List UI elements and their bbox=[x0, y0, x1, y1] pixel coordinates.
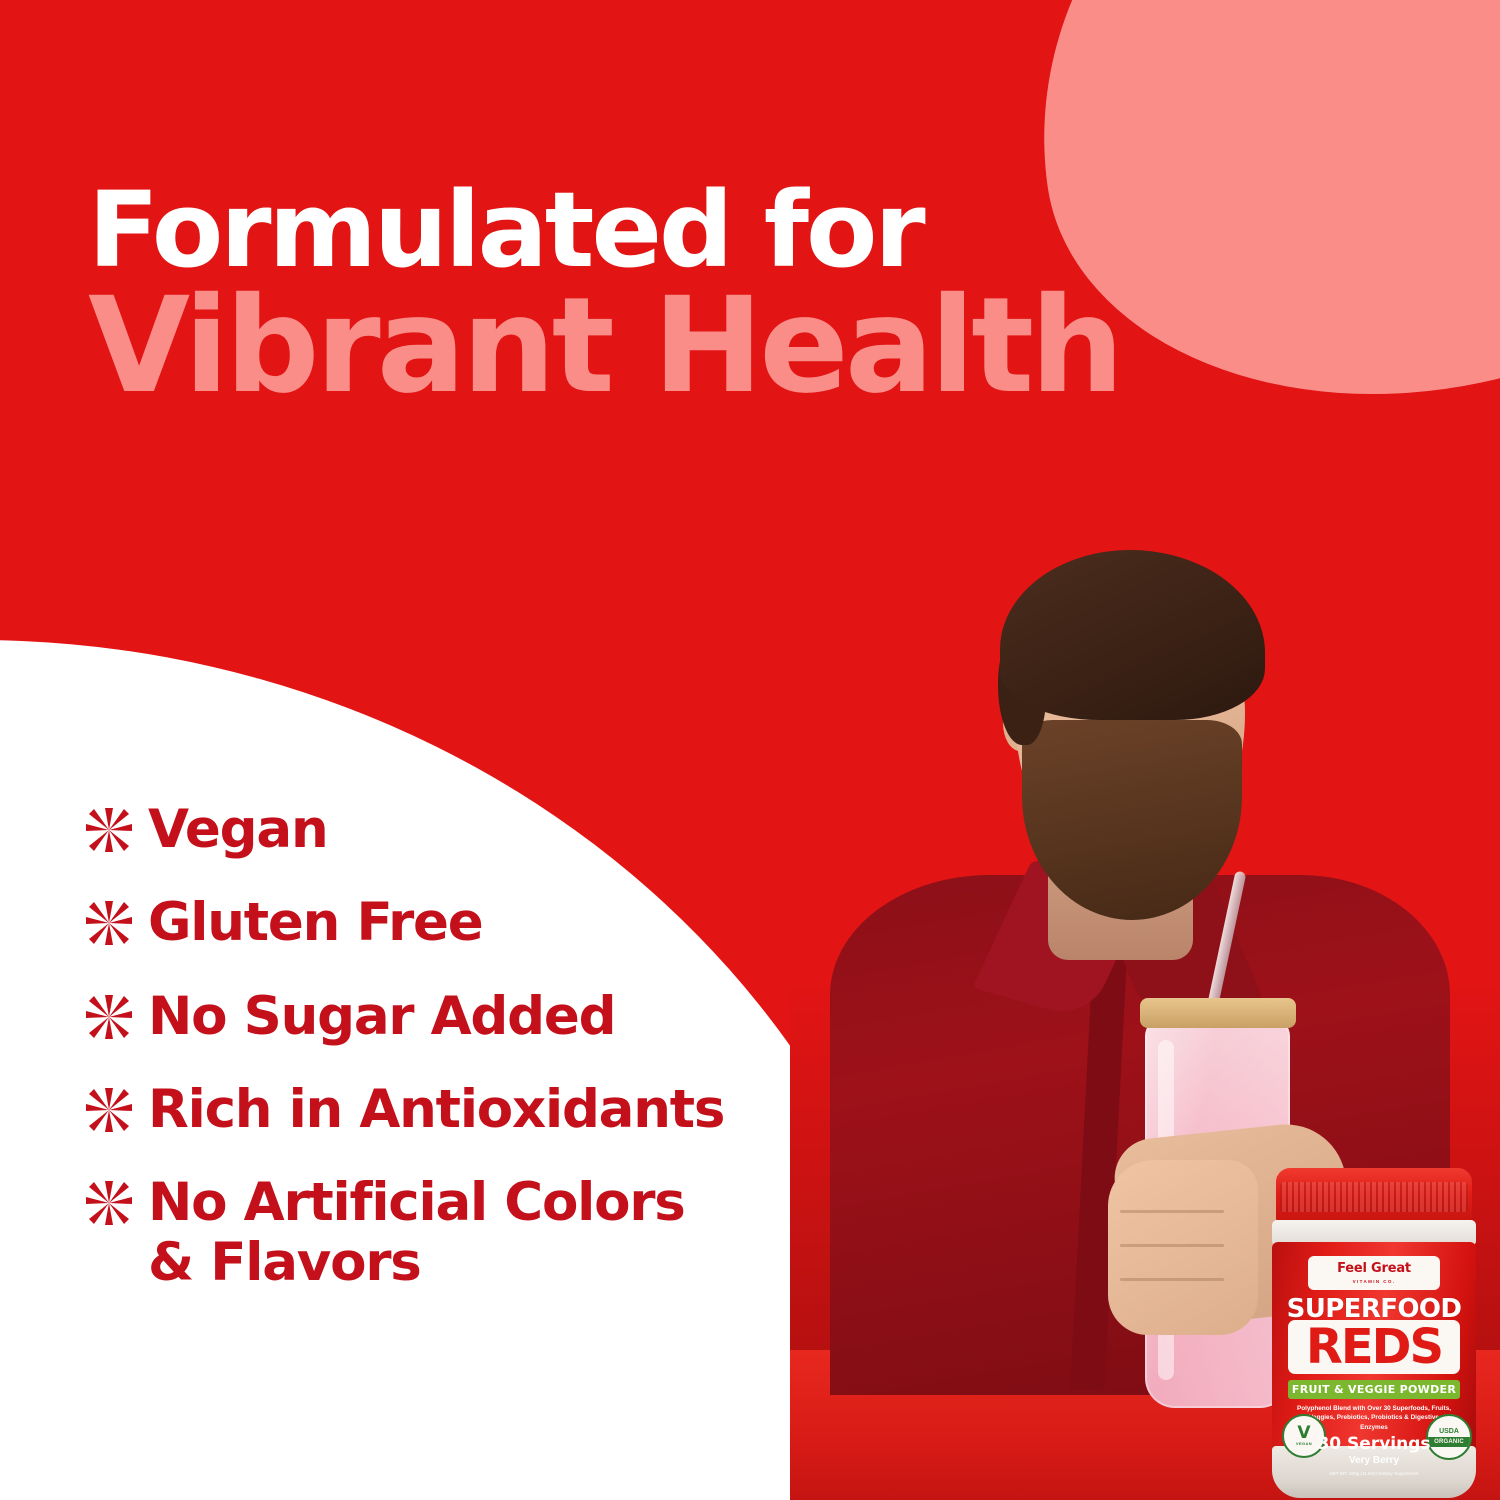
benefits-list: Vegan Gluten Free bbox=[70, 800, 860, 1326]
flavor-name: Very Berry bbox=[1296, 1456, 1452, 1466]
asterisk-icon bbox=[70, 893, 148, 949]
headline-block: Formulated for Vibrant Health bbox=[88, 182, 1468, 407]
brand-subtitle: VITAMIN CO. bbox=[1353, 1279, 1396, 1284]
benefit-label: No Artificial Colors & Flavors bbox=[148, 1173, 685, 1292]
benefit-label: Gluten Free bbox=[148, 893, 483, 952]
benefit-label: Rich in Antioxidants bbox=[148, 1080, 724, 1139]
headline-line-1: Formulated for bbox=[88, 182, 1468, 279]
finger-crease bbox=[1120, 1244, 1224, 1247]
asterisk-icon bbox=[70, 1080, 148, 1136]
list-item: Vegan bbox=[70, 800, 860, 859]
brand-name: Feel Great bbox=[1337, 1262, 1411, 1275]
jar-cap-ridges bbox=[1280, 1182, 1468, 1212]
bamboo-lid bbox=[1140, 998, 1296, 1028]
promo-banner: Feel Great VITAMIN CO. SUPERFOOD REDS FR… bbox=[0, 0, 1500, 1500]
net-weight: NET WT. 330g (11.6oz) Dietary Supplement bbox=[1296, 1471, 1452, 1476]
asterisk-icon bbox=[70, 1173, 148, 1229]
product-jar[interactable]: Feel Great VITAMIN CO. SUPERFOOD REDS FR… bbox=[1268, 1168, 1480, 1500]
hand bbox=[1108, 1160, 1258, 1335]
list-item: No Artificial Colors & Flavors bbox=[70, 1173, 860, 1292]
product-name-line2: REDS bbox=[1288, 1320, 1460, 1374]
list-item: Rich in Antioxidants bbox=[70, 1080, 860, 1139]
finger-crease bbox=[1120, 1210, 1224, 1213]
product-subtitle: FRUIT & VEGGIE POWDER bbox=[1288, 1380, 1460, 1399]
list-item: Gluten Free bbox=[70, 893, 860, 952]
asterisk-icon bbox=[70, 800, 148, 856]
asterisk-icon bbox=[70, 987, 148, 1043]
benefit-label: No Sugar Added bbox=[148, 987, 615, 1046]
headline-line-2: Vibrant Health bbox=[88, 285, 1468, 408]
benefit-label: Vegan bbox=[148, 800, 328, 859]
finger-crease bbox=[1120, 1278, 1224, 1281]
brand-badge: Feel Great VITAMIN CO. bbox=[1308, 1256, 1440, 1290]
usda-top: USDA bbox=[1439, 1428, 1459, 1435]
list-item: No Sugar Added bbox=[70, 987, 860, 1046]
servings-count: 30 Servings bbox=[1296, 1436, 1452, 1453]
